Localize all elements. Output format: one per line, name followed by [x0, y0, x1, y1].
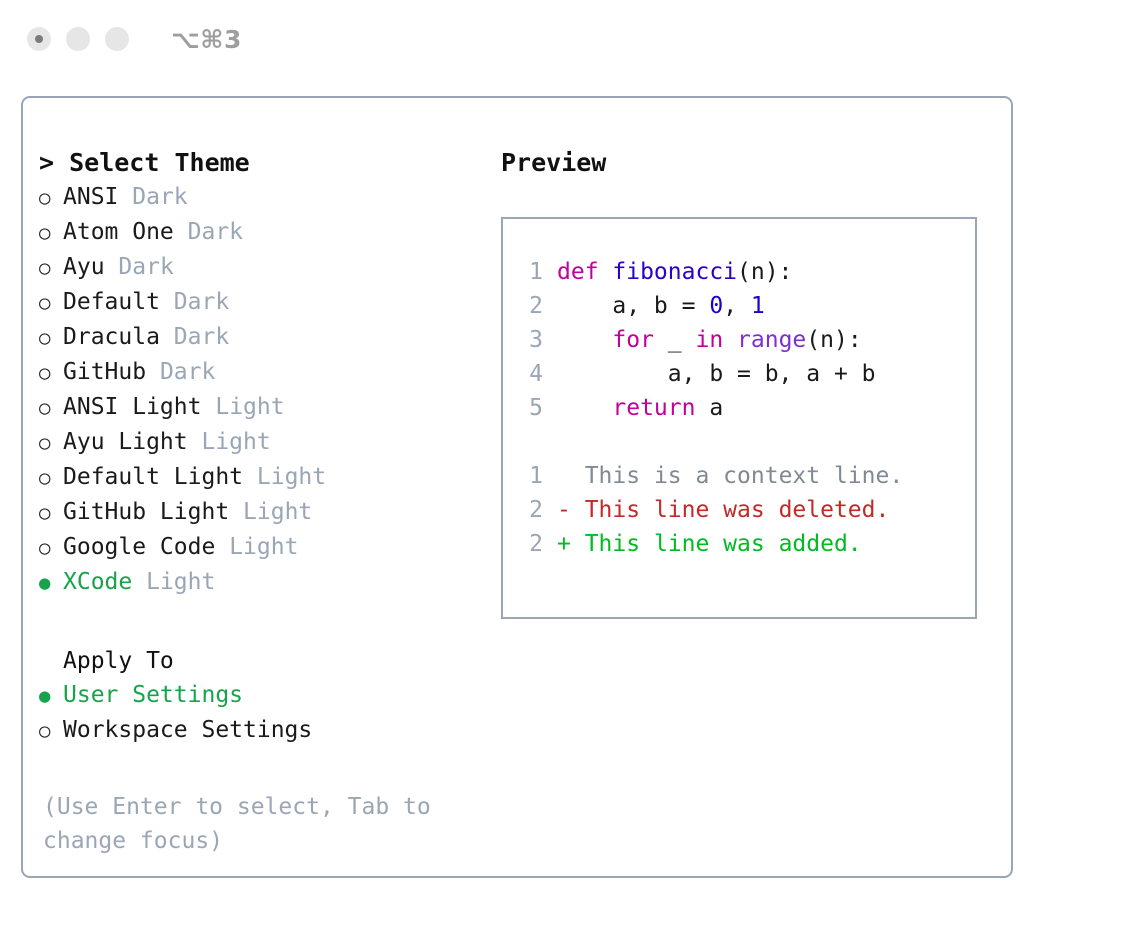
- theme-kind-label: Dark: [160, 355, 215, 389]
- radio-unselected-icon: ○: [39, 391, 63, 425]
- diff-marker: +: [557, 531, 571, 557]
- theme-list-item[interactable]: ○Default Light Light: [39, 460, 493, 495]
- code-token-pln: [723, 327, 737, 353]
- code-token-pln: a: [695, 395, 723, 421]
- diff-line: 2- This line was deleted.: [513, 493, 975, 527]
- code-content: for _ in range(n):: [557, 323, 862, 357]
- line-number: 3: [513, 323, 557, 357]
- keyboard-hint-text: (Use Enter to select, Tab to change focu…: [39, 790, 463, 858]
- apply-to-option[interactable]: ●User Settings: [39, 678, 493, 713]
- radio-unselected-icon: ○: [39, 531, 63, 565]
- code-token-kw: return: [612, 395, 695, 421]
- line-number: 1: [513, 255, 557, 289]
- diff-text: This line was deleted.: [571, 497, 890, 523]
- diff-text: This line was added.: [571, 531, 862, 557]
- theme-name: Ayu Light: [63, 425, 188, 459]
- theme-kind-label: Light: [146, 565, 215, 599]
- preview-column: Preview 1def fibonacci(n):2 a, b = 0, 13…: [493, 98, 1011, 876]
- diff-content-add: + This line was added.: [557, 527, 862, 561]
- radio-unselected-icon: ○: [39, 216, 63, 250]
- theme-kind-label: Dark: [132, 180, 187, 214]
- radio-unselected-icon: ○: [39, 251, 63, 285]
- app-root: ⌥⌘3 > Select Theme ○ANSI Dark○Atom One D…: [0, 0, 1140, 934]
- theme-list-item[interactable]: ○ANSI Dark: [39, 180, 493, 215]
- code-token-pln: a, b =: [557, 293, 709, 319]
- window-dot-3[interactable]: [105, 27, 129, 51]
- radio-unselected-icon: ○: [39, 321, 63, 355]
- code-line: 2 a, b = 0, 1: [513, 289, 975, 323]
- theme-list-item[interactable]: ○ANSI Light Light: [39, 390, 493, 425]
- code-token-pln: (n):: [806, 327, 861, 353]
- theme-kind-label: Dark: [174, 320, 229, 354]
- theme-list-item[interactable]: ○Dracula Dark: [39, 320, 493, 355]
- theme-list-item[interactable]: ○Ayu Dark: [39, 250, 493, 285]
- theme-kind-label: Dark: [188, 215, 243, 249]
- theme-picker-panel: > Select Theme ○ANSI Dark○Atom One Dark○…: [21, 96, 1013, 878]
- window-titlebar: ⌥⌘3: [0, 0, 1140, 78]
- diff-content-ctx: This is a context line.: [557, 459, 903, 493]
- theme-name: Atom One: [63, 215, 174, 249]
- apply-to-label: User Settings: [63, 678, 243, 712]
- window-dot-2[interactable]: [66, 27, 90, 51]
- code-token-kw: def: [557, 259, 612, 285]
- code-token-pln: (n):: [737, 259, 792, 285]
- window-dot-active[interactable]: [27, 27, 51, 51]
- code-token-pln: [557, 327, 612, 353]
- window-controls: [27, 27, 129, 51]
- code-diff-spacer: [513, 425, 975, 459]
- theme-list-item[interactable]: ○Atom One Dark: [39, 215, 493, 250]
- code-line: 1def fibonacci(n):: [513, 255, 975, 289]
- theme-list-item[interactable]: ○Default Dark: [39, 285, 493, 320]
- radio-unselected-icon: ○: [39, 181, 63, 215]
- diff-line: 1 This is a context line.: [513, 459, 975, 493]
- line-number: 2: [513, 289, 557, 323]
- radio-selected-icon: ●: [39, 566, 63, 600]
- theme-list-item[interactable]: ●XCode Light: [39, 565, 493, 600]
- apply-to-label: Workspace Settings: [63, 713, 312, 747]
- code-token-num: 0: [709, 293, 723, 319]
- diff-text: This is a context line.: [571, 463, 903, 489]
- code-token-pln: a, b = b, a + b: [557, 361, 876, 387]
- theme-kind-label: Light: [201, 425, 270, 459]
- code-token-call: range: [737, 327, 806, 353]
- radio-unselected-icon: ○: [39, 356, 63, 390]
- theme-list-item[interactable]: ○Ayu Light Light: [39, 425, 493, 460]
- theme-name: Default: [63, 285, 160, 319]
- radio-selected-icon: ●: [39, 679, 63, 713]
- line-number: 2: [513, 493, 557, 527]
- diff-content-del: - This line was deleted.: [557, 493, 889, 527]
- theme-selection-column: > Select Theme ○ANSI Dark○Atom One Dark○…: [23, 98, 493, 876]
- line-number: 4: [513, 357, 557, 391]
- theme-list: ○ANSI Dark○Atom One Dark○Ayu Dark○Defaul…: [39, 180, 493, 600]
- code-token-fn: fibonacci: [612, 259, 737, 285]
- theme-name: Ayu: [63, 250, 105, 284]
- code-content: a, b = 0, 1: [557, 289, 765, 323]
- theme-list-item[interactable]: ○GitHub Dark: [39, 355, 493, 390]
- code-token-pln: _: [654, 327, 696, 353]
- code-line: 4 a, b = b, a + b: [513, 357, 975, 391]
- diff-marker: -: [557, 497, 571, 523]
- theme-list-item[interactable]: ○GitHub Light Light: [39, 495, 493, 530]
- theme-name: XCode: [63, 565, 132, 599]
- theme-name: Dracula: [63, 320, 160, 354]
- apply-to-header: Apply To: [39, 644, 493, 678]
- radio-unselected-icon: ○: [39, 496, 63, 530]
- code-preview: 1def fibonacci(n):2 a, b = 0, 13 for _ i…: [513, 255, 975, 425]
- preview-title: Preview: [501, 146, 1011, 180]
- diff-marker: [557, 463, 571, 489]
- line-number: 2: [513, 527, 557, 561]
- theme-kind-label: Light: [215, 390, 284, 424]
- theme-list-item[interactable]: ○Google Code Light: [39, 530, 493, 565]
- code-content: return a: [557, 391, 723, 425]
- line-number: 5: [513, 391, 557, 425]
- diff-line: 2+ This line was added.: [513, 527, 975, 561]
- code-line: 5 return a: [513, 391, 975, 425]
- keyboard-shortcut-label: ⌥⌘3: [171, 25, 242, 54]
- code-token-pln: [557, 395, 612, 421]
- line-number: 1: [513, 459, 557, 493]
- theme-kind-label: Light: [257, 460, 326, 494]
- code-token-num: 1: [751, 293, 765, 319]
- radio-unselected-icon: ○: [39, 461, 63, 495]
- diff-preview: 1 This is a context line.2- This line wa…: [513, 459, 975, 561]
- apply-to-list: ●User Settings○Workspace Settings: [39, 678, 493, 748]
- select-theme-header: > Select Theme: [39, 146, 493, 180]
- theme-name: Google Code: [63, 530, 215, 564]
- theme-kind-label: Dark: [118, 250, 173, 284]
- theme-name: GitHub Light: [63, 495, 229, 529]
- window-dot-inner: [35, 35, 43, 43]
- radio-unselected-icon: ○: [39, 286, 63, 320]
- theme-kind-label: Light: [243, 495, 312, 529]
- code-line: 3 for _ in range(n):: [513, 323, 975, 357]
- code-token-pln: ,: [723, 293, 751, 319]
- theme-name: GitHub: [63, 355, 146, 389]
- theme-kind-label: Dark: [174, 285, 229, 319]
- theme-kind-label: Light: [229, 530, 298, 564]
- theme-name: Default Light: [63, 460, 243, 494]
- radio-unselected-icon: ○: [39, 714, 63, 748]
- theme-name: ANSI Light: [63, 390, 201, 424]
- apply-to-option[interactable]: ○Workspace Settings: [39, 713, 493, 748]
- radio-unselected-icon: ○: [39, 426, 63, 460]
- preview-box: 1def fibonacci(n):2 a, b = 0, 13 for _ i…: [501, 217, 977, 619]
- code-token-kw: for: [612, 327, 654, 353]
- theme-name: ANSI: [63, 180, 118, 214]
- panel-columns: > Select Theme ○ANSI Dark○Atom One Dark○…: [23, 98, 1011, 876]
- code-content: a, b = b, a + b: [557, 357, 876, 391]
- code-token-kw: in: [695, 327, 723, 353]
- code-content: def fibonacci(n):: [557, 255, 792, 289]
